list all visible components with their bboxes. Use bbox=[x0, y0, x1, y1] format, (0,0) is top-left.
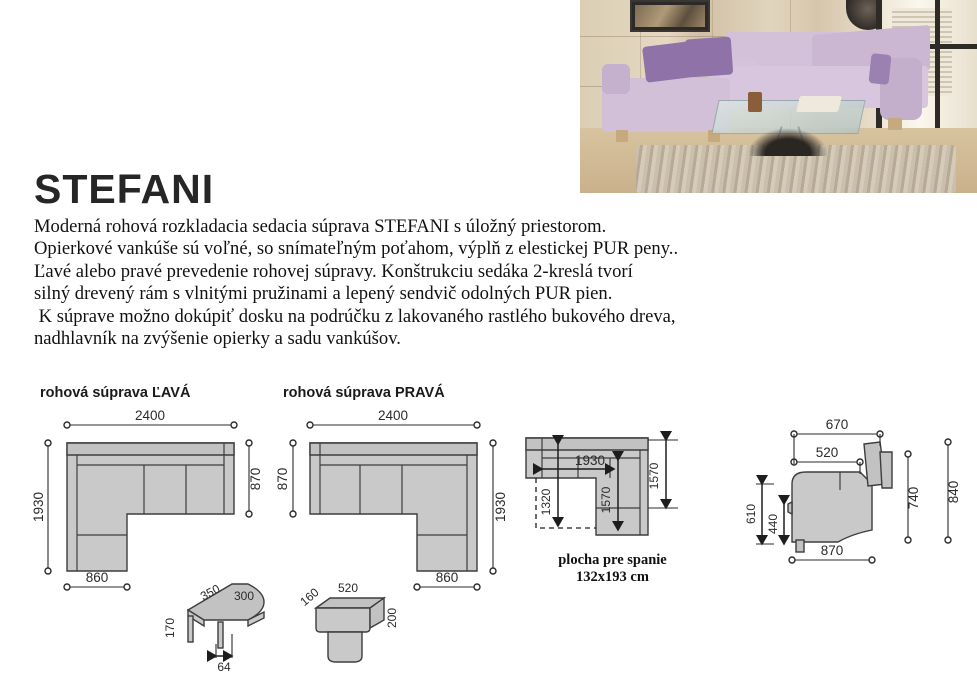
table-base bbox=[748, 128, 828, 156]
wall-picture-frame bbox=[630, 0, 710, 32]
dim-sleep-width-outer: 1570 bbox=[647, 462, 661, 489]
desc-line: Ľavé alebo pravé prevedenie rohovej súpr… bbox=[34, 261, 774, 283]
dim-seat-depth-total: 670 bbox=[826, 417, 849, 432]
dim-headrest-height: 200 bbox=[385, 608, 399, 628]
dim-seat-depth: 520 bbox=[816, 445, 839, 460]
dim-chaise-width: 860 bbox=[436, 570, 459, 585]
dim-seat-height: 440 bbox=[766, 514, 780, 534]
dim-back-depth: 870 bbox=[275, 468, 290, 491]
dim-depth: 1930 bbox=[493, 492, 508, 522]
left-plan-drawing: 2400 1930 870 860 bbox=[34, 405, 284, 580]
dim-board-height: 170 bbox=[163, 618, 177, 638]
dim-arm-height: 610 bbox=[744, 504, 758, 524]
table-vase bbox=[748, 92, 762, 112]
dim-width: 2400 bbox=[378, 408, 408, 423]
accent-pillow bbox=[868, 53, 891, 85]
dim-depth: 1930 bbox=[31, 492, 46, 522]
dim-sleep-length: 1930 bbox=[575, 453, 605, 468]
sofa-chaise-arm bbox=[602, 64, 630, 94]
page-title: STEFANI bbox=[34, 166, 214, 213]
accent-pillow bbox=[685, 36, 734, 77]
side-view-drawing: 670 520 610 440 740 840 870 bbox=[752, 412, 977, 572]
dim-total-height: 840 bbox=[946, 481, 961, 504]
headrest-drawing: 520 160 200 bbox=[292, 578, 412, 663]
left-plan-heading: rohová súprava ĽAVÁ bbox=[40, 385, 190, 401]
caption-line2: 132x193 cm bbox=[515, 569, 710, 586]
dim-back-depth: 870 bbox=[248, 468, 263, 491]
dim-board-thickness: 64 bbox=[217, 660, 231, 674]
dim-width: 2400 bbox=[135, 408, 165, 423]
product-sheet: STEFANI Moderná rohová rozkladacia sedac… bbox=[0, 0, 977, 675]
dim-sleep-width-inner: 1570 bbox=[599, 486, 613, 513]
sofa-foot bbox=[888, 118, 902, 130]
dim-headrest-width: 520 bbox=[338, 581, 358, 595]
table-book bbox=[796, 96, 842, 112]
dim-back-height: 740 bbox=[906, 487, 921, 510]
dim-chaise-width: 860 bbox=[86, 570, 109, 585]
desc-line: K súprave možno dokúpiť dosku na podrúčk… bbox=[34, 306, 774, 328]
dim-board-width: 300 bbox=[234, 589, 254, 603]
sleeping-area-drawing: 1930 1320 1570 1570 bbox=[518, 430, 718, 555]
armrest-board-drawing: 350 300 170 64 bbox=[152, 578, 282, 673]
product-description: Moderná rohová rozkladacia sedacia súpra… bbox=[34, 216, 774, 350]
sofa-foot bbox=[616, 130, 628, 142]
desc-line: nadhlavník na zvýšenie opierky a sadu va… bbox=[34, 328, 774, 350]
sleeping-area-caption: plocha pre spanie 132x193 cm bbox=[515, 552, 710, 586]
dim-length: 870 bbox=[821, 543, 844, 558]
right-plan-drawing: 2400 870 1930 860 bbox=[277, 405, 527, 580]
desc-line: Opierkové vankúše sú voľné, so snímateľn… bbox=[34, 238, 774, 260]
dim-headrest-depth: 160 bbox=[297, 585, 322, 609]
desc-line: silný drevený rám s vlnitými pružinami a… bbox=[34, 283, 774, 305]
dim-sleep-extension: 1320 bbox=[539, 488, 553, 515]
desc-line: Moderná rohová rozkladacia sedacia súpra… bbox=[34, 216, 774, 238]
product-photo bbox=[580, 0, 977, 193]
right-plan-heading: rohová súprava PRAVÁ bbox=[283, 385, 445, 401]
caption-line1: plocha pre spanie bbox=[515, 552, 710, 569]
